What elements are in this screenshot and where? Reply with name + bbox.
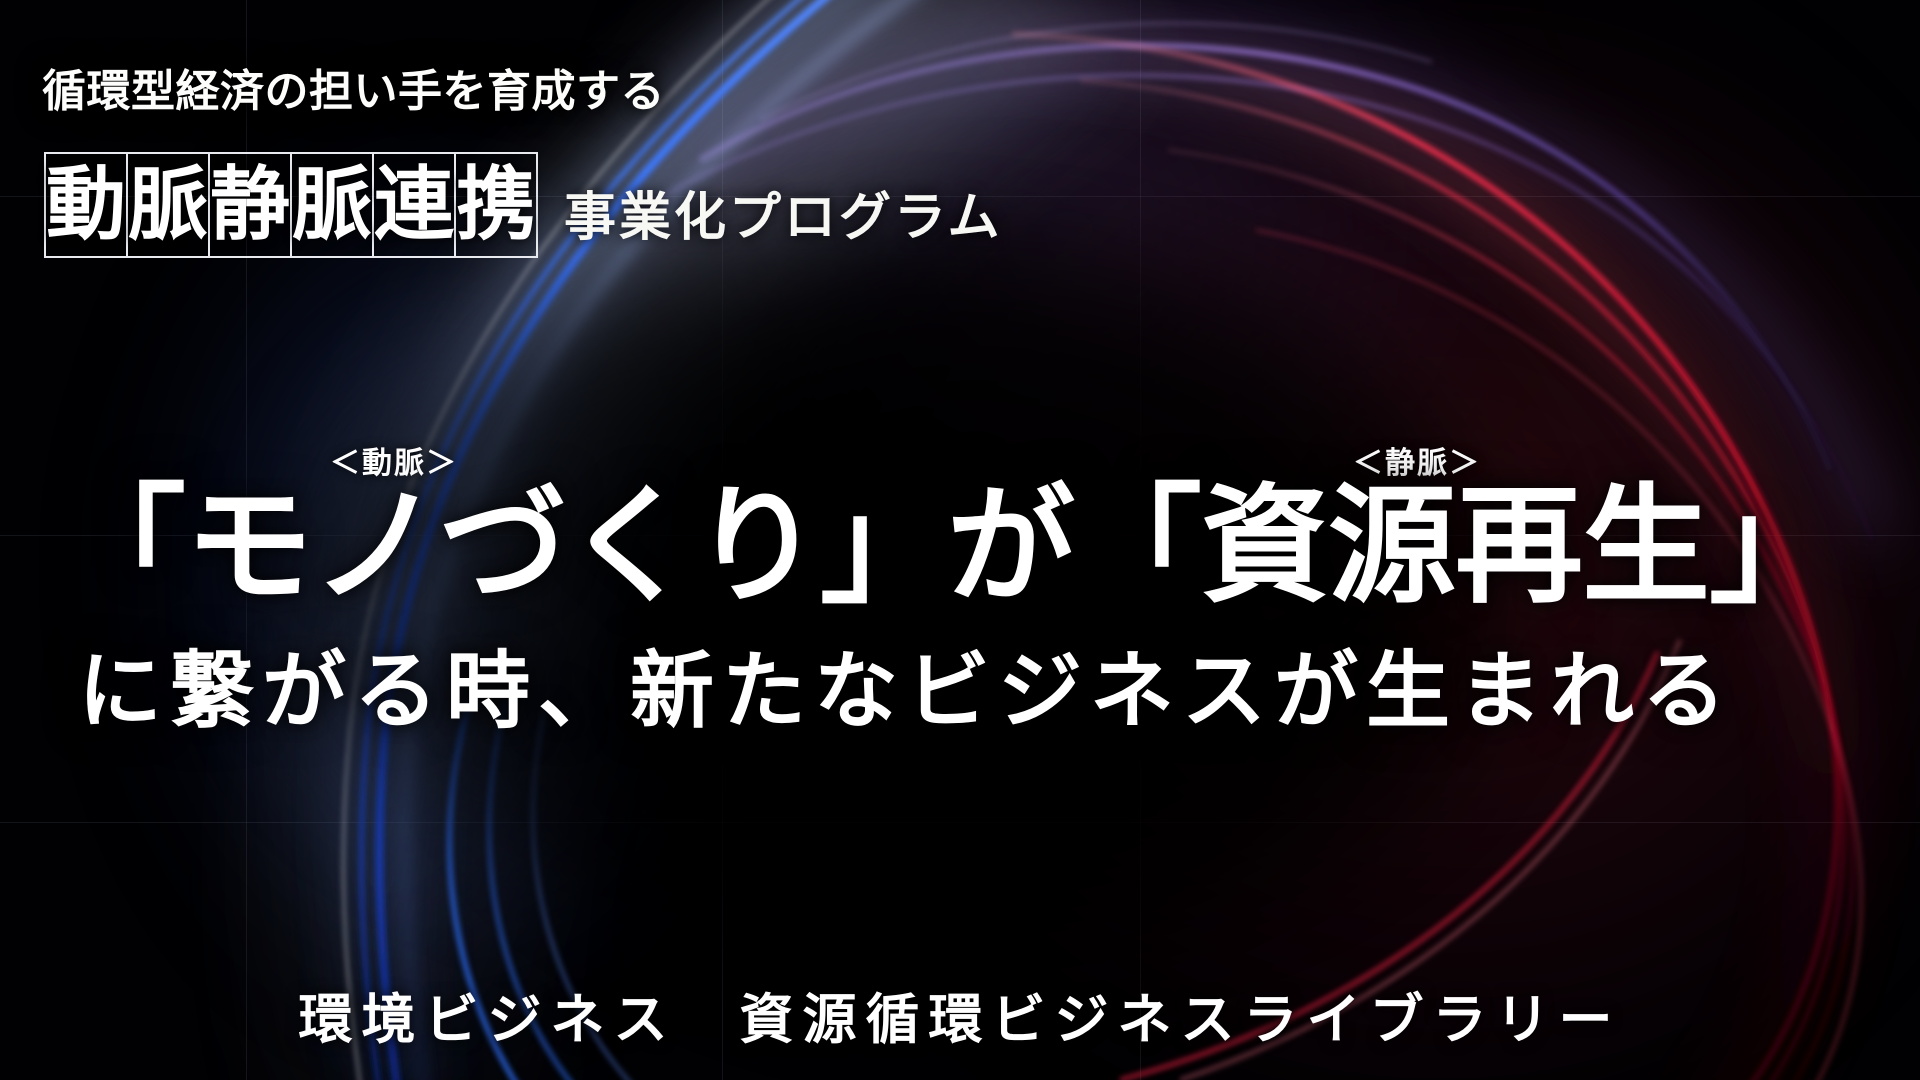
poster-canvas: 循環型経済の担い手を育成する 動 脈 静 脈 連 携 事業化プログラム ＜動脈＞… bbox=[0, 0, 1920, 1080]
grid-line-horizontal bbox=[0, 822, 1920, 823]
boxed-char: 動 bbox=[44, 152, 128, 258]
violet-arc-glow bbox=[700, 46, 1880, 540]
violet-arc-3 bbox=[760, 23, 1432, 120]
program-title: 動 脈 静 脈 連 携 事業化プログラム bbox=[44, 152, 1002, 258]
boxed-char: 静 bbox=[208, 152, 292, 258]
eyebrow-text: 循環型経済の担い手を育成する bbox=[42, 55, 665, 119]
footer-branding: 環境ビジネス 資源循環ビジネスライブラリー bbox=[0, 975, 1920, 1054]
program-label: 事業化プログラム bbox=[564, 175, 1002, 258]
boxed-char: 脈 bbox=[290, 152, 374, 258]
headline-line-2: に繋がる時、新たなビジネスが生まれる bbox=[78, 645, 1734, 737]
headline-line-1: 「モノづくり」が「資源再生」 bbox=[58, 480, 1836, 614]
boxed-char: 脈 bbox=[126, 152, 210, 258]
boxed-title-chars: 動 脈 静 脈 連 携 bbox=[44, 152, 536, 258]
boxed-char: 連 bbox=[372, 152, 456, 258]
violet-arc-2 bbox=[640, 75, 1872, 540]
boxed-char: 携 bbox=[454, 152, 538, 258]
